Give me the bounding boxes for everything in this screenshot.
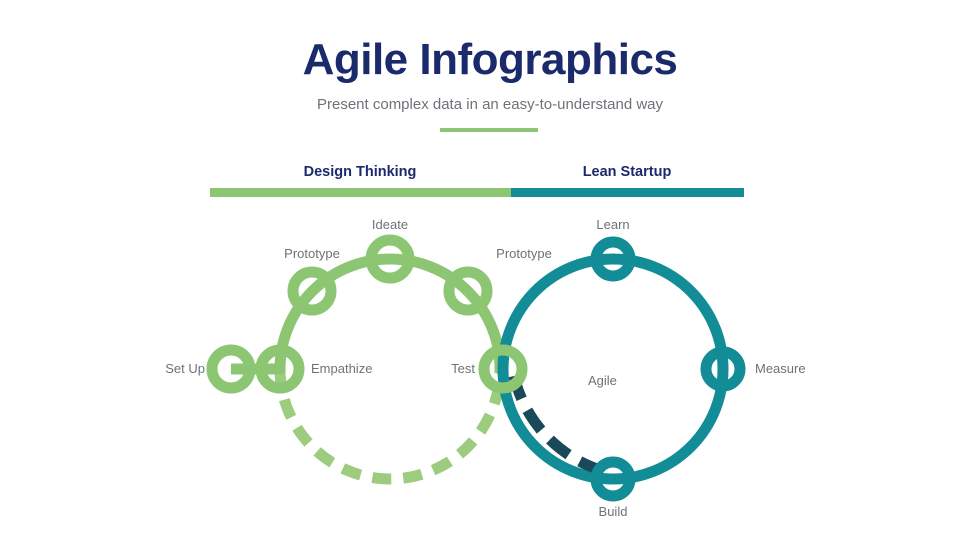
node-label-build: Build <box>533 504 693 519</box>
lean-startup-circle <box>503 259 723 479</box>
slide-canvas: Agile Infographics Present complex data … <box>0 0 980 551</box>
node-label-measure: Measure <box>755 361 806 376</box>
design-thinking-dashed-arc <box>280 369 500 479</box>
node-label-learn: Learn <box>533 217 693 232</box>
node-label-set-up: Set Up <box>100 361 205 376</box>
agile-connector-dashed-arc <box>514 376 607 472</box>
node-label-ideate: Ideate <box>310 217 470 232</box>
node-label-empathize: Empathize <box>311 361 372 376</box>
node-label-test: Test <box>395 361 475 376</box>
node-label-agile: Agile <box>588 373 617 388</box>
node-label-prototype-left: Prototype <box>232 246 392 261</box>
node-label-prototype-right: Prototype <box>444 246 604 261</box>
agile-cycle-diagram <box>0 0 980 551</box>
